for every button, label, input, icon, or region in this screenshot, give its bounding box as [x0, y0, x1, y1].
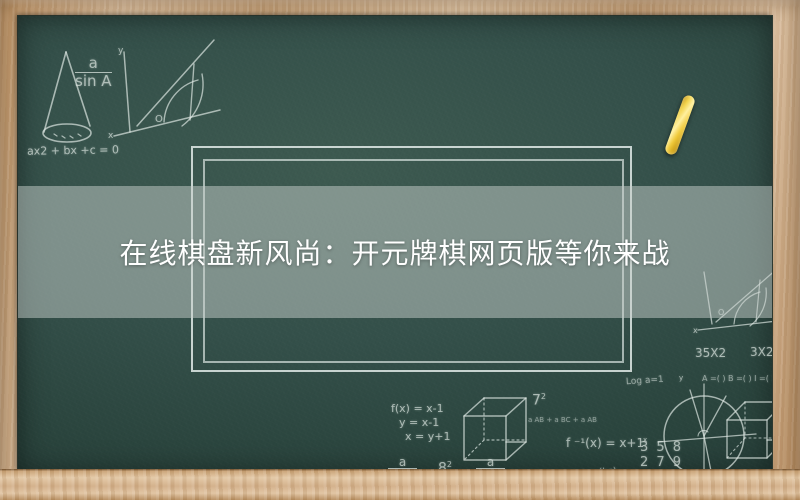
axis-label-x-rightmid: x: [693, 326, 698, 335]
page-title-text: 在线棋盘新风尚：开元牌棋网页版等你来战: [119, 232, 670, 272]
function-line-1: f(x) = x-1: [391, 402, 450, 416]
axis-label-y-topleft: y: [118, 46, 123, 56]
misc-identity-label: a AB + a BC + a AB: [528, 416, 597, 424]
function-line-2: y = x-1: [391, 416, 450, 430]
chalkboard: a sin A ax2 + bx +c = 0 y x O O x: [18, 16, 772, 473]
function-line-3: x = y+1: [391, 430, 450, 444]
power-eight-exponent: 2: [447, 460, 452, 469]
fraction-a-over-sinA-topleft: a sin A: [75, 56, 112, 90]
cube-wireframe-bottomcenter: [456, 394, 546, 473]
matrix-row-label: A =( ) B =( ) I =( ): [702, 374, 772, 383]
log-identity-label: Log a=1: [626, 375, 664, 388]
angle-label-o-topleft: O: [155, 114, 163, 125]
fraction-denominator: sin A: [75, 73, 112, 90]
cone-shape-icon: [32, 48, 102, 158]
quadratic-equation-label: ax2 + bx +c = 0: [27, 143, 119, 158]
axis-label-y-bottomright: y: [679, 374, 683, 382]
fraction-numerator: a: [476, 456, 505, 469]
fraction-numerator: a: [75, 56, 112, 73]
matrix-label-35x2: 35X2: [695, 346, 726, 360]
power-seven-exponent: 2: [541, 392, 546, 401]
circle-radii-diagram: [652, 378, 762, 473]
axis-label-x-topleft: x: [108, 131, 113, 141]
power-seven-label: 72: [532, 392, 546, 409]
addend-row-1: 3 5 8: [640, 440, 683, 455]
power-seven-base: 7: [532, 393, 541, 409]
page-title: 在线棋盘新风尚：开元牌棋网页版等你来战: [18, 186, 772, 318]
cube-wireframe-bottomright: [723, 394, 772, 469]
wooden-frame: a sin A ax2 + bx +c = 0 y x O O x: [0, 0, 800, 500]
axis-label-x-bottomright: x: [643, 436, 647, 444]
fraction-numerator: a: [388, 456, 417, 469]
function-lines-group: f(x) = x-1 y = x-1 x = y+1: [391, 402, 450, 444]
inverse-function-label: f ⁻¹(x) = x+1: [566, 436, 644, 450]
yellow-chalk-stick-icon: [664, 94, 696, 156]
matrix-label-3x2: 3X2: [750, 345, 772, 359]
wooden-chalk-ledge: [0, 469, 800, 500]
angle-bisector-construction-topleft: [102, 34, 232, 154]
